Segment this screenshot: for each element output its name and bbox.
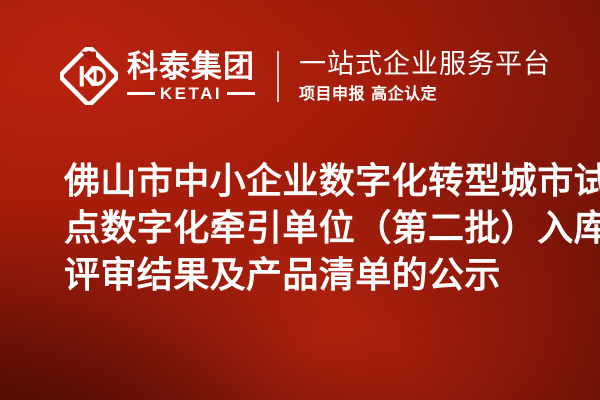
notice-title-line-1: 佛山市中小企业数字化转型城市试 [64, 158, 572, 205]
header-vertical-divider [277, 51, 279, 102]
brand-rule-right-icon [227, 92, 255, 95]
notice-banner: 科泰集团 KETAI 一站式企业服务平台 项目申报 高企认定 佛山市中小企业数字… [0, 0, 600, 400]
ketai-kd-diamond-logo-icon [60, 47, 118, 105]
brand-name-en: KETAI [160, 85, 222, 103]
brand-name-en-row: KETAI [127, 85, 255, 103]
notice-title-line-2: 点数字化牵引单位（第二批）入库 [64, 205, 572, 252]
tagline-block: 一站式企业服务平台 项目申报 高企认定 [299, 50, 551, 103]
brand-header: 科泰集团 KETAI 一站式企业服务平台 项目申报 高企认定 [60, 40, 551, 112]
brand-wordmark: 科泰集团 KETAI [127, 50, 255, 103]
brand-rule-left-icon [127, 92, 155, 95]
brand-name-cn: 科泰集团 [127, 50, 255, 84]
tagline-main: 一站式企业服务平台 [299, 50, 551, 80]
notice-title-line-3: 评审结果及产品清单的公示 [64, 252, 572, 299]
tagline-sub: 项目申报 高企认定 [299, 85, 551, 103]
banner-content: 科泰集团 KETAI 一站式企业服务平台 项目申报 高企认定 佛山市中小企业数字… [0, 0, 600, 400]
notice-title: 佛山市中小企业数字化转型城市试 点数字化牵引单位（第二批）入库 评审结果及产品清… [64, 158, 572, 299]
